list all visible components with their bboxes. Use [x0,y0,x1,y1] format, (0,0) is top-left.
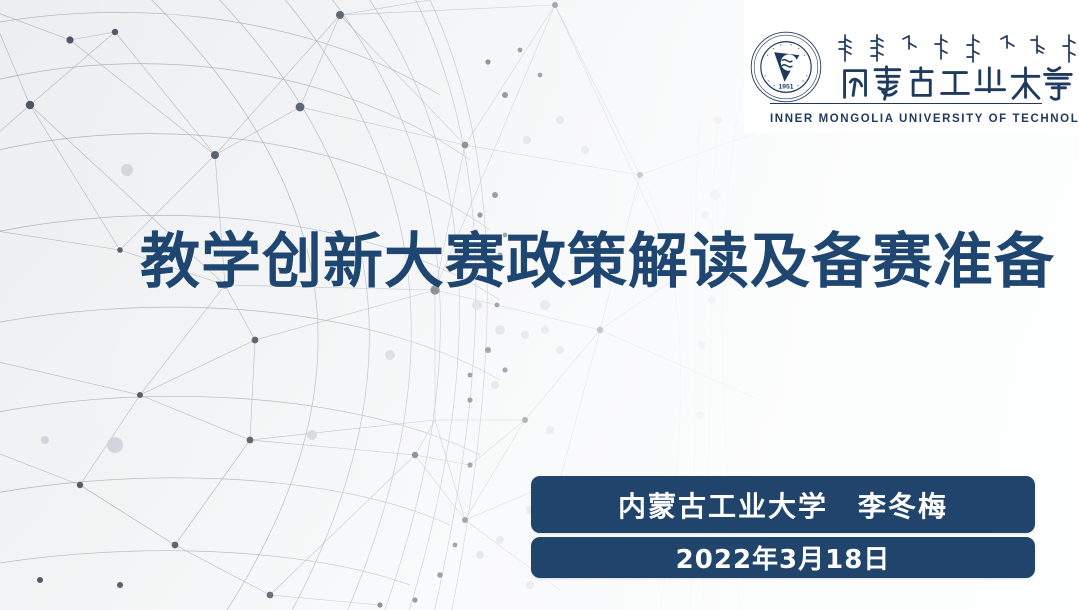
mongolian-script-text [831,31,1079,65]
seal-year: 1951 [778,83,793,90]
slide-title: 教学创新大赛政策解读及备赛准备 [140,227,970,297]
university-seal-icon: 1951 [749,30,823,104]
presenter-bar: 内蒙古工业大学 李冬梅 [531,476,1035,533]
date-bar: 2022年3月18日 [531,537,1035,578]
university-english-name: INNER MONGOLIA UNIVERSITY OF TECHNOLOGY [770,113,1044,125]
logo-divider [770,103,1042,104]
university-chinese-name: 内蒙古工业大学 [831,63,1079,103]
university-logo: 1951 [744,0,1079,133]
presentation-slide: 1951 [0,0,1079,610]
